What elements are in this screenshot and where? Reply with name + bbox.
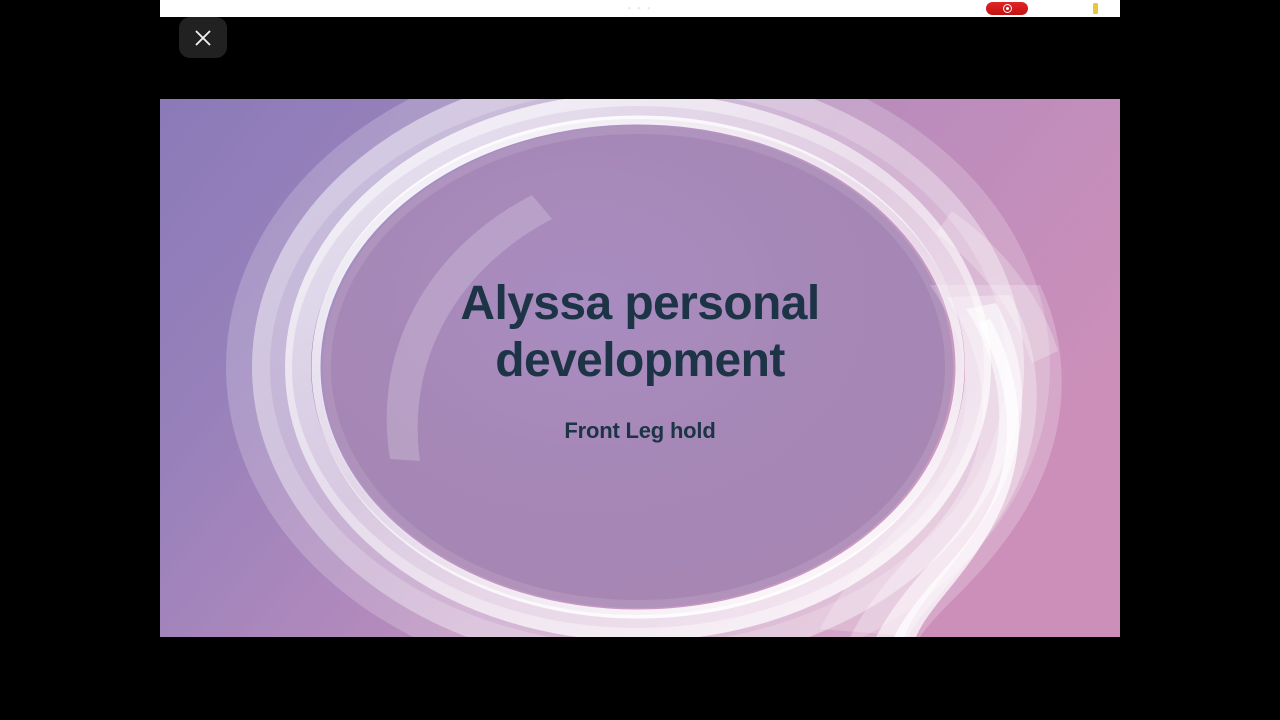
- top-status-bar: • • •: [160, 0, 1120, 17]
- record-dot-icon: [1006, 7, 1009, 10]
- screen-root: • • •: [0, 0, 1280, 720]
- slide-subtitle: Front Leg hold: [564, 418, 715, 444]
- recording-indicator[interactable]: [986, 2, 1028, 15]
- slide-title: Alyssa personal development: [430, 276, 850, 389]
- close-x-icon: [192, 27, 214, 49]
- close-button[interactable]: [179, 17, 227, 58]
- presentation-slide[interactable]: Alyssa personal development Front Leg ho…: [160, 99, 1120, 637]
- ellipsis-icon: • • •: [628, 4, 652, 13]
- battery-icon: [1093, 3, 1098, 14]
- slide-text-block: Alyssa personal development Front Leg ho…: [160, 99, 1120, 637]
- record-circle-icon: [1003, 4, 1012, 13]
